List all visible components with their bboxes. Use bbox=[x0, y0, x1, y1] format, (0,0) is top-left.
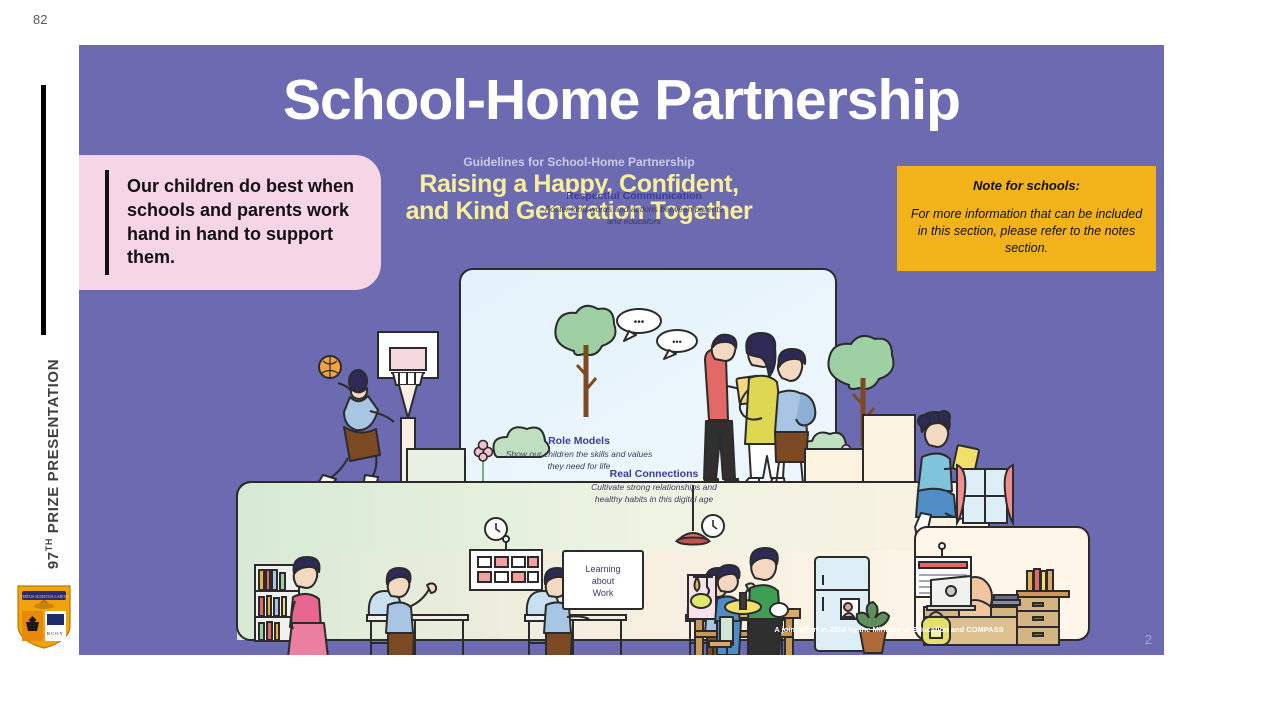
svg-text:•••: ••• bbox=[634, 317, 645, 328]
note-for-schools-box: Note for schools: For more information t… bbox=[897, 166, 1156, 271]
infographic-illustration: ••• ••• bbox=[79, 45, 1164, 655]
document-page-number: 82 bbox=[33, 12, 47, 27]
svg-text:•••: ••• bbox=[672, 337, 681, 347]
window-with-curtains-icon bbox=[957, 465, 1013, 523]
svg-text:Work: Work bbox=[593, 588, 614, 598]
callout-box: Our children do best when schools and pa… bbox=[79, 155, 381, 290]
slide-page: 82 97TH PRIZE PRESENTATION VIRTUS SCIENT… bbox=[0, 0, 1280, 720]
whiteboard-icon: Learning about Work bbox=[563, 551, 643, 609]
section-title: Respectful Communication bbox=[544, 190, 724, 202]
section-body: Foster kind words and actions between pa… bbox=[544, 204, 724, 227]
left-rail-bar bbox=[41, 85, 46, 335]
infographic-credit: A joint effort in 2024 by the Ministry o… bbox=[759, 625, 1019, 635]
infographic-artwork: ••• ••• bbox=[79, 45, 1164, 655]
section-role-models: Role Models Show our children the skills… bbox=[504, 435, 654, 472]
school-coat-of-arms-icon: VIRTUS SCIENTIA LABOR R C O Y bbox=[13, 578, 75, 650]
callout-accent-bar bbox=[105, 170, 109, 275]
rail-label-ordinal: TH bbox=[44, 538, 54, 551]
svg-text:VIRTUS SCIENTIA LABOR: VIRTUS SCIENTIA LABOR bbox=[20, 594, 68, 599]
book-stack-icon bbox=[992, 595, 1020, 605]
section-body: Cultivate strong relationships and healt… bbox=[584, 482, 724, 505]
note-title: Note for schools: bbox=[909, 177, 1144, 195]
bottle-icon bbox=[740, 593, 746, 609]
svg-text:Learning: Learning bbox=[585, 564, 620, 574]
left-rail-label: 97TH PRIZE PRESENTATION bbox=[44, 349, 62, 579]
callout-text: Our children do best when schools and pa… bbox=[127, 175, 367, 270]
infographic-supertitle: Guidelines for School-Home Partnership bbox=[409, 155, 749, 169]
presentation-slide: School-Home Partnership bbox=[79, 45, 1164, 655]
laptop-icon bbox=[927, 576, 975, 610]
svg-text:about: about bbox=[592, 576, 615, 586]
rail-label-number: 97 bbox=[45, 551, 62, 569]
note-body: For more information that can be include… bbox=[909, 206, 1144, 258]
wall-clock-icon bbox=[702, 515, 724, 537]
section-respectful-communication: Respectful Communication Foster kind wor… bbox=[544, 190, 724, 227]
slide-number: 2 bbox=[1145, 632, 1152, 647]
rail-label-rest: PRIZE PRESENTATION bbox=[45, 359, 62, 538]
svg-text:R C O Y: R C O Y bbox=[47, 631, 63, 636]
section-title: Role Models bbox=[504, 435, 654, 447]
section-title: Real Connections bbox=[584, 468, 724, 480]
section-real-connections: Real Connections Cultivate strong relati… bbox=[584, 468, 724, 505]
